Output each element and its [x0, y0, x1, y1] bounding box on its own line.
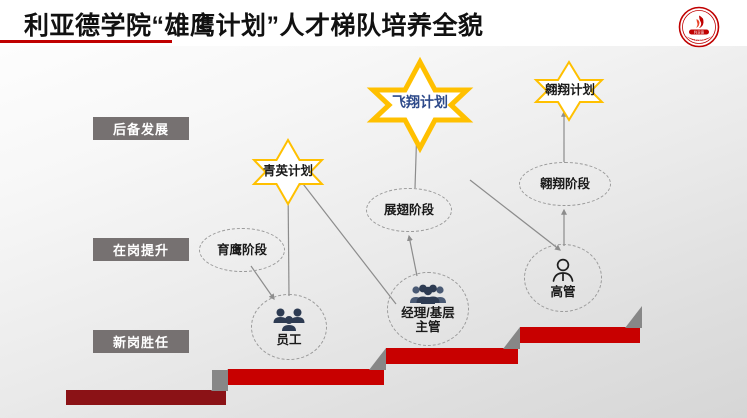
slide-canvas: 利亚德学院“雄鹰计划”人才梯队培养全貌 利亚德 LEYARD — [0, 0, 747, 418]
role-node-jingli[interactable]: 经理/基层 主管 — [387, 272, 469, 346]
stair-step-4 — [520, 327, 640, 343]
stage-node-aoxiang[interactable]: 翱翔阶段 — [519, 162, 611, 206]
group-people-icon — [410, 284, 446, 305]
stairs-group — [66, 306, 642, 405]
stage-node-zhanchi-label: 展翅阶段 — [384, 203, 434, 217]
role-node-yuangong-label: 员工 — [276, 333, 301, 347]
stage-node-aoxiang-label: 翱翔阶段 — [540, 177, 590, 191]
stage-node-yuying[interactable]: 育鹰阶段 — [199, 228, 285, 272]
star-aoxiang[interactable] — [536, 62, 602, 120]
connector-jingli-to-zhanchi — [409, 236, 417, 276]
stair-riser-3 — [503, 327, 520, 349]
stair-step-3 — [386, 348, 518, 364]
stage-label-houbei-fazhan: 后备发展 — [93, 117, 189, 140]
role-node-jingli-label: 经理/基层 主管 — [401, 306, 454, 334]
single-person-icon — [550, 258, 576, 284]
stage-node-yuying-label: 育鹰阶段 — [217, 243, 267, 257]
stair-riser-4 — [625, 306, 642, 328]
star-feixiang[interactable] — [373, 62, 467, 148]
stair-step-2 — [228, 369, 384, 385]
stage-node-zhanchi[interactable]: 展翅阶段 — [366, 188, 452, 232]
stair-riser-2 — [369, 348, 386, 370]
stair-step-1 — [66, 390, 226, 405]
stage-label-xingang-shengren: 新岗胜任 — [93, 330, 189, 353]
role-node-gaoguan[interactable]: 高管 — [524, 244, 602, 312]
role-node-gaoguan-label: 高管 — [550, 285, 575, 299]
role-node-yuangong[interactable]: 员工 — [251, 294, 327, 360]
three-people-icon — [272, 308, 306, 332]
stage-label-zaigang-tisheng: 在岗提升 — [93, 238, 189, 261]
